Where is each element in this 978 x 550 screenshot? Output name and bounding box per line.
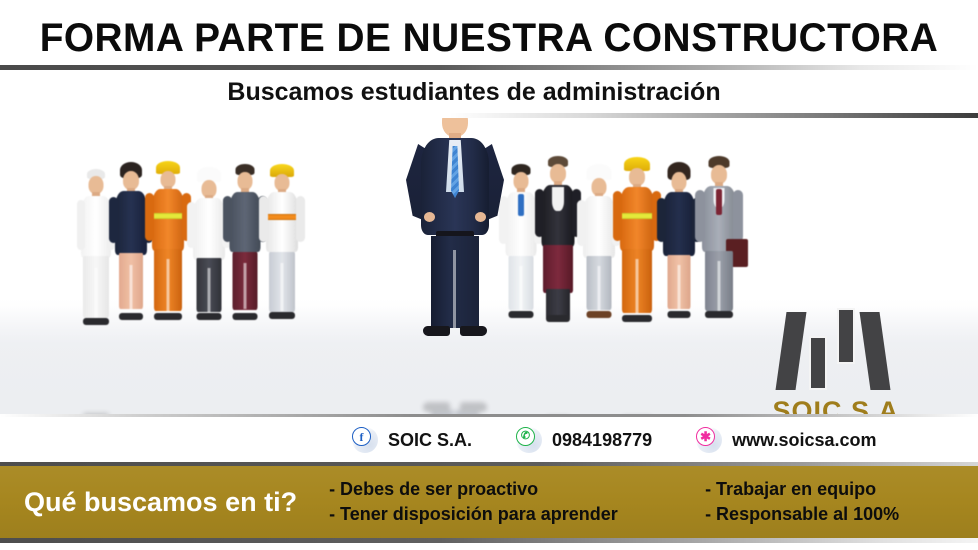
requirements-title: Qué buscamos en ti? bbox=[0, 487, 315, 518]
requirement-item: - Trabajar en equipo bbox=[705, 479, 899, 500]
whatsapp-icon[interactable]: ✆ bbox=[516, 427, 542, 453]
logo-pillar bbox=[860, 312, 891, 390]
contact-facebook[interactable]: f SOIC S.A. bbox=[352, 427, 472, 453]
requirements-column-left: - Debes de ser proactivo - Tener disposi… bbox=[329, 479, 699, 525]
contact-website[interactable]: ✱ www.soicsa.com bbox=[696, 427, 876, 453]
worker-figure bbox=[612, 157, 662, 327]
right-hand bbox=[475, 212, 486, 222]
requirement-item: - Debes de ser proactivo bbox=[329, 479, 699, 500]
logo-pillar bbox=[837, 308, 855, 364]
logo-pillar bbox=[809, 336, 827, 390]
contact-bar: f SOIC S.A. ✆ 0984198779 ✱ www.soicsa.co… bbox=[0, 418, 978, 462]
website-url: www.soicsa.com bbox=[732, 430, 876, 451]
page-title: FORMA PARTE DE NUESTRA CONSTRUCTORA bbox=[15, 16, 964, 61]
worker-figure bbox=[144, 161, 192, 327]
featured-businessman bbox=[398, 118, 510, 345]
company-logo: SOIC S.A. SOIC S.A. bbox=[742, 308, 938, 415]
website-icon[interactable]: ✱ bbox=[696, 427, 722, 453]
page-subtitle: Buscamos estudiantes de administración bbox=[0, 78, 978, 107]
poster-header: FORMA PARTE DE NUESTRA CONSTRUCTORA Busc… bbox=[0, 0, 978, 118]
leg-gap bbox=[453, 250, 456, 328]
logo-wordmark: SOIC S.A. bbox=[742, 396, 938, 415]
header-divider-top bbox=[0, 65, 978, 70]
hero-photo: SOIC S.A. SOIC S.A. bbox=[0, 118, 978, 415]
logo-pillar bbox=[776, 312, 807, 390]
requirement-item: - Responsable al 100% bbox=[705, 504, 899, 525]
requirements-column-right: - Trabajar en equipo - Responsable al 10… bbox=[705, 479, 899, 525]
requirements-band: Qué buscamos en ti? - Debes de ser proac… bbox=[0, 466, 978, 538]
requirements-columns: - Debes de ser proactivo - Tener disposi… bbox=[315, 479, 978, 525]
left-hand bbox=[424, 212, 435, 222]
facebook-icon[interactable]: f bbox=[352, 427, 378, 453]
worker-figure bbox=[534, 159, 582, 327]
right-shoe bbox=[460, 326, 487, 336]
footer-padding bbox=[0, 543, 978, 550]
contact-divider bbox=[0, 414, 978, 417]
worker-figure bbox=[694, 159, 744, 327]
logo-buildings-icon bbox=[775, 308, 905, 390]
facebook-glyph: f bbox=[352, 427, 371, 446]
requirement-item: - Tener disposición para aprender bbox=[329, 504, 699, 525]
facebook-label: SOIC S.A. bbox=[388, 430, 472, 451]
worker-figure bbox=[258, 164, 306, 327]
contact-whatsapp[interactable]: ✆ 0984198779 bbox=[516, 427, 652, 453]
website-glyph: ✱ bbox=[696, 427, 715, 446]
phone-number: 0984198779 bbox=[552, 430, 652, 451]
left-shoe bbox=[423, 326, 450, 336]
recruitment-poster: FORMA PARTE DE NUESTRA CONSTRUCTORA Busc… bbox=[0, 0, 978, 550]
whatsapp-glyph: ✆ bbox=[516, 427, 535, 446]
